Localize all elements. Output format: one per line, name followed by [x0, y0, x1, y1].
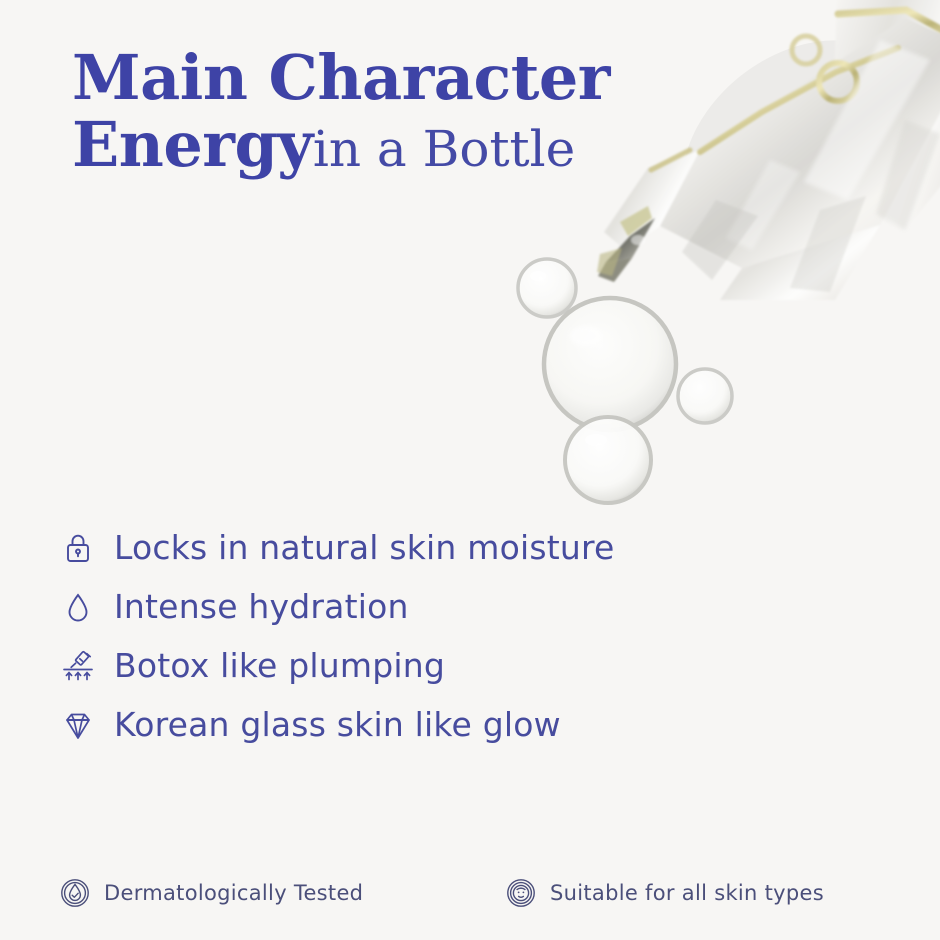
headline-line-2: Energyin a Bottle: [72, 110, 872, 184]
benefit-label: Korean glass skin like glow: [114, 705, 561, 744]
headline-line-1: Main Character: [72, 46, 872, 110]
droplet-large-center: [544, 298, 676, 430]
benefit-item-glow: Korean glass skin like glow: [56, 695, 856, 754]
benefit-item-hydration: Intense hydration: [56, 577, 856, 636]
badge-dermatologically-tested: Dermatologically Tested: [56, 874, 502, 912]
footer-badges: Dermatologically Tested Suitable for all…: [56, 874, 892, 912]
badge-label: Suitable for all skin types: [550, 881, 824, 905]
benefit-label: Locks in natural skin moisture: [114, 528, 615, 567]
product-poster: Main Character Energyin a Bottle Locks i…: [0, 0, 940, 940]
benefits-list: Locks in natural skin moisture Intense h…: [56, 518, 856, 754]
headline-word-energy: Energy: [72, 108, 313, 181]
diamond-icon: [56, 703, 100, 747]
benefit-item-plumping: Botox like plumping: [56, 636, 856, 695]
droplet-check-badge-icon: [56, 874, 94, 912]
droplet-small-right: [678, 369, 732, 423]
gold-rim-highlight: [838, 10, 940, 40]
benefit-item-moisture: Locks in natural skin moisture: [56, 518, 856, 577]
droplet-small-upper-left: [518, 259, 576, 317]
pipette-tip: [597, 206, 655, 282]
lock-icon: [56, 526, 100, 570]
benefit-label: Botox like plumping: [114, 646, 445, 685]
water-drop-icon: [56, 585, 100, 629]
face-badge-icon: [502, 874, 540, 912]
benefit-label: Intense hydration: [114, 587, 409, 626]
badge-label: Dermatologically Tested: [104, 881, 363, 905]
droplet-medium-lower: [565, 417, 651, 503]
headline-block: Main Character Energyin a Bottle: [72, 46, 872, 184]
serum-droplets: [518, 259, 732, 503]
syringe-plumping-icon: [56, 644, 100, 688]
headline-accent: in a Bottle: [313, 120, 575, 178]
badge-suitable-all-skin-types: Suitable for all skin types: [502, 874, 824, 912]
